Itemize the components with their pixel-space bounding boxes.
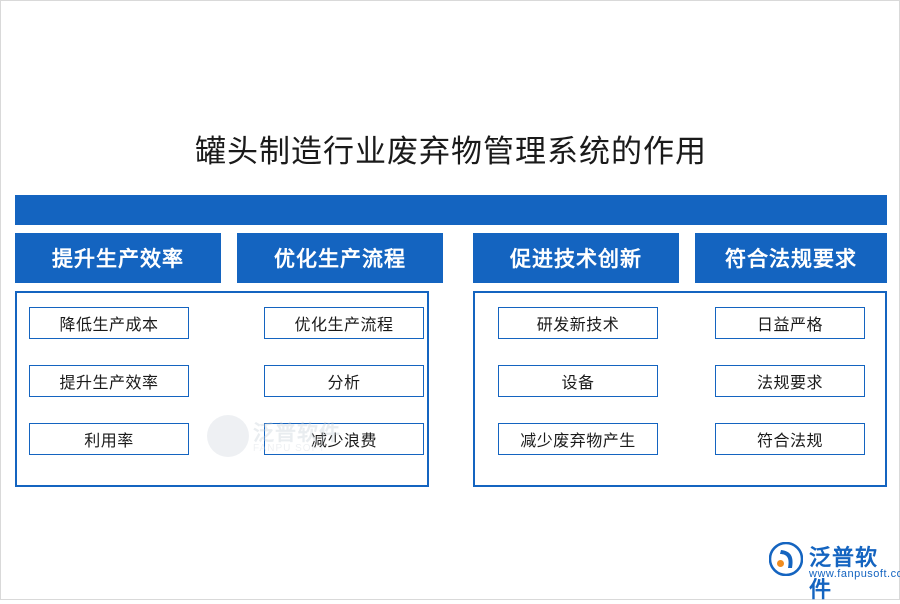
item-chip-c4-r3[interactable]: 符合法规 xyxy=(715,423,865,455)
slide-canvas: 罐头制造行业废弃物管理系统的作用 提升生产效率 优化生产流程 促进技术创新 符合… xyxy=(0,0,900,600)
category-header-3[interactable]: 促进技术创新 xyxy=(473,233,679,283)
item-chip-c3-r3[interactable]: 减少废弃物产生 xyxy=(498,423,658,455)
item-chip-c2-r2[interactable]: 分析 xyxy=(264,365,424,397)
category-header-1[interactable]: 提升生产效率 xyxy=(15,233,221,283)
item-chip-c2-r3[interactable]: 减少浪费 xyxy=(264,423,424,455)
category-header-4[interactable]: 符合法规要求 xyxy=(695,233,887,283)
item-chip-c3-r2[interactable]: 设备 xyxy=(498,365,658,397)
header-band xyxy=(15,195,887,225)
item-chip-c3-r1[interactable]: 研发新技术 xyxy=(498,307,658,339)
item-chip-c4-r1[interactable]: 日益严格 xyxy=(715,307,865,339)
category-header-2[interactable]: 优化生产流程 xyxy=(237,233,443,283)
item-chip-c4-r2[interactable]: 法规要求 xyxy=(715,365,865,397)
brand-logo-url: www.fanpusoft.com xyxy=(809,568,900,580)
page-title: 罐头制造行业废弃物管理系统的作用 xyxy=(1,126,900,171)
item-chip-c1-r1[interactable]: 降低生产成本 xyxy=(29,307,189,339)
item-chip-c2-r1[interactable]: 优化生产流程 xyxy=(264,307,424,339)
item-chip-c1-r3[interactable]: 利用率 xyxy=(29,423,189,455)
brand-logo: 泛普软件 www.fanpusoft.com xyxy=(769,540,889,588)
brand-logo-icon xyxy=(769,542,803,576)
category-header-row: 提升生产效率 优化生产流程 促进技术创新 符合法规要求 xyxy=(15,233,887,283)
item-chip-c1-r2[interactable]: 提升生产效率 xyxy=(29,365,189,397)
